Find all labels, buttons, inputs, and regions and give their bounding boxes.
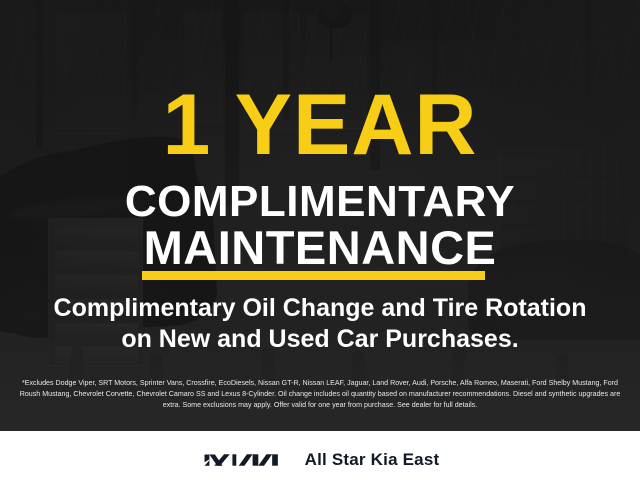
kia-logo — [201, 449, 283, 471]
disclaimer-fine-print: *Excludes Dodge Viper, SRT Motors, Sprin… — [14, 378, 626, 411]
subheadline-line-1: Complimentary Oil Change and Tire Rotati… — [54, 294, 587, 322]
headline-complimentary: COMPLIMENTARY — [0, 180, 640, 224]
subheadline-line-2: on New and Used Car Purchases. — [20, 324, 620, 355]
headline-year: 1 YEAR — [0, 82, 640, 168]
headline-maintenance: MAINTENANCE — [0, 224, 640, 271]
yellow-divider-bar — [142, 271, 485, 280]
footer-bar: All Star Kia East — [0, 431, 640, 488]
banner-copy: 1 YEAR COMPLIMENTARY MAINTENANCE Complim… — [0, 0, 640, 488]
dealer-name: All Star Kia East — [305, 450, 440, 470]
promotional-banner: 1 YEAR COMPLIMENTARY MAINTENANCE Complim… — [0, 0, 640, 488]
subheadline: Complimentary Oil Change and Tire Rotati… — [20, 293, 620, 355]
